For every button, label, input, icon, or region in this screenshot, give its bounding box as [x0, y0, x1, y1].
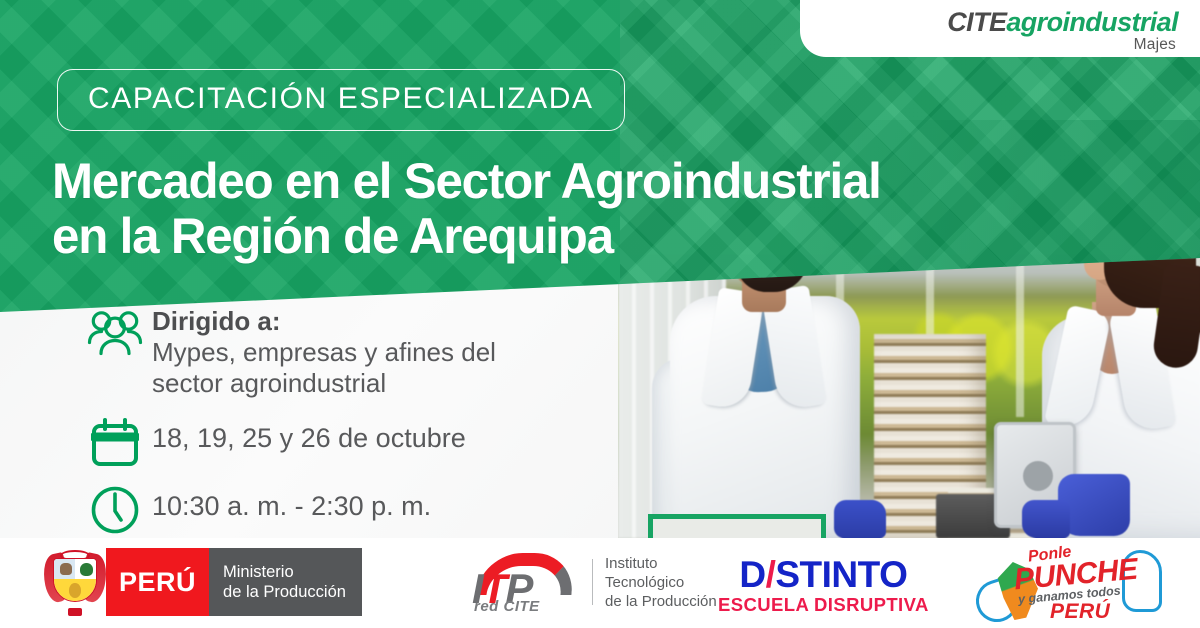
title-line-1: Mercadeo en el Sector Agroindustrial [52, 154, 881, 209]
peru-ministry-logo: PERÚ Ministeriode la Producción [44, 548, 362, 616]
itp-name-line-1: Instituto [605, 555, 658, 572]
dates-text: 18, 19, 25 y 26 de octubre [152, 413, 466, 454]
punche-peru-text: PERÚ [1050, 600, 1110, 624]
itp-mark: ITP red CITE [466, 551, 590, 613]
people-icon [78, 306, 152, 356]
footer-logo-bar: PERÚ Ministeriode la Producción ITP red … [0, 538, 1200, 628]
distinto-part-1: D [739, 554, 765, 595]
ponle-punche-logo: Ponle PUNCHE y ganamos todos PERÚ [972, 544, 1172, 622]
shield-cinchona-tree [80, 563, 93, 576]
detail-row-dates: 18, 19, 25 y 26 de octubre [78, 413, 496, 467]
calendar-icon [78, 413, 152, 467]
ministry-line-2: de la Producción [223, 583, 346, 601]
itp-logo: ITP red CITE Instituto Tecnológico de la… [466, 551, 717, 613]
audience-line-2: sector agroindustrial [152, 368, 386, 398]
cite-text: CITE [947, 7, 1006, 37]
ministry-text: Ministeriode la Producción [223, 562, 346, 602]
agroindustrial-text: agroindustrial [1006, 7, 1178, 37]
detail-row-audience: Dirigido a: Mypes, empresas y afines del… [78, 306, 496, 399]
itp-name-line-3: de la Producción [605, 593, 717, 610]
shield-cornucopia [69, 583, 81, 597]
clock-icon [78, 481, 152, 535]
peru-coat-of-arms-icon [44, 548, 106, 616]
itp-red-cite-label: red CITE [474, 598, 540, 615]
cite-wordmark: CITEagroindustrial [947, 7, 1178, 38]
coat-base [68, 608, 82, 616]
coat-shield [53, 558, 97, 602]
promotional-banner: CITEagroindustrial Majes CAPACITACIÓN ES… [0, 0, 1200, 628]
distinto-logo: D/STINTO ESCUELA DISRUPTIVA [718, 556, 929, 616]
distinto-part-2: STINTO [775, 554, 907, 595]
ministry-line-1: Ministerio [223, 563, 294, 581]
title-line-2: en la Región de Arequipa [52, 209, 881, 264]
distinto-wordmark: D/STINTO [718, 556, 929, 594]
cite-location: Majes [1134, 36, 1176, 54]
shield-vicuna [60, 563, 72, 575]
audience-line-1: Mypes, empresas y afines del [152, 337, 496, 367]
itp-name-line-2: Tecnológico [605, 574, 684, 591]
peru-country-label: PERÚ [106, 548, 209, 616]
event-details-list: Dirigido a: Mypes, empresas y afines del… [78, 306, 496, 535]
audience-text: Dirigido a: Mypes, empresas y afines del… [152, 306, 496, 399]
distinto-slash: / [766, 554, 776, 595]
category-badge-label: CAPACITACIÓN ESPECIALIZADA [88, 82, 594, 115]
itp-divider [592, 559, 593, 605]
page-title: Mercadeo en el Sector Agroindustrial en … [52, 154, 893, 264]
category-badge: CAPACITACIÓN ESPECIALIZADA [57, 69, 625, 131]
time-text: 10:30 a. m. - 2:30 p. m. [152, 481, 431, 522]
itp-full-name: Instituto Tecnológico de la Producción [605, 554, 717, 611]
ministry-label: Ministeriode la Producción [209, 548, 362, 616]
photo-softening-overlay [618, 250, 1200, 538]
distinto-tagline: ESCUELA DISRUPTIVA [718, 594, 929, 616]
detail-row-time: 10:30 a. m. - 2:30 p. m. [78, 481, 496, 535]
agroindustrial-photo [618, 250, 1200, 538]
cite-logo-panel: CITEagroindustrial Majes [800, 0, 1200, 57]
audience-heading: Dirigido a: [152, 306, 496, 337]
